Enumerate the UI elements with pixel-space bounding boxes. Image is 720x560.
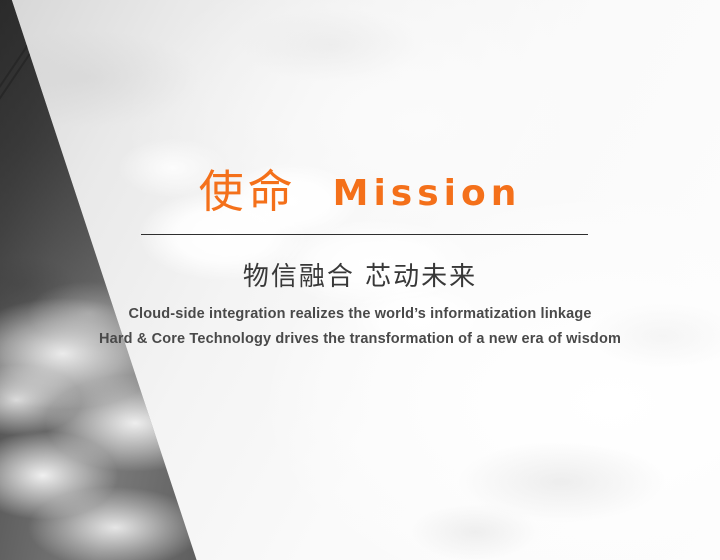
tagline-line-1: Cloud-side integration realizes the worl… xyxy=(0,302,720,327)
mission-banner: 使命 Mission 物信融合 芯动未来 Cloud-side integrat… xyxy=(0,0,720,560)
tagline-block: Cloud-side integration realizes the worl… xyxy=(0,302,720,352)
tagline-line-2: Hard & Core Technology drives the transf… xyxy=(0,327,720,352)
title-divider xyxy=(141,234,588,235)
subtitle-chinese: 物信融合 芯动未来 xyxy=(0,256,720,293)
title-english: Mission xyxy=(333,176,522,212)
banner-content: 使命 Mission 物信融合 芯动未来 Cloud-side integrat… xyxy=(0,0,720,560)
title-row: 使命 Mission xyxy=(0,169,720,214)
title-chinese: 使命 xyxy=(199,169,297,214)
